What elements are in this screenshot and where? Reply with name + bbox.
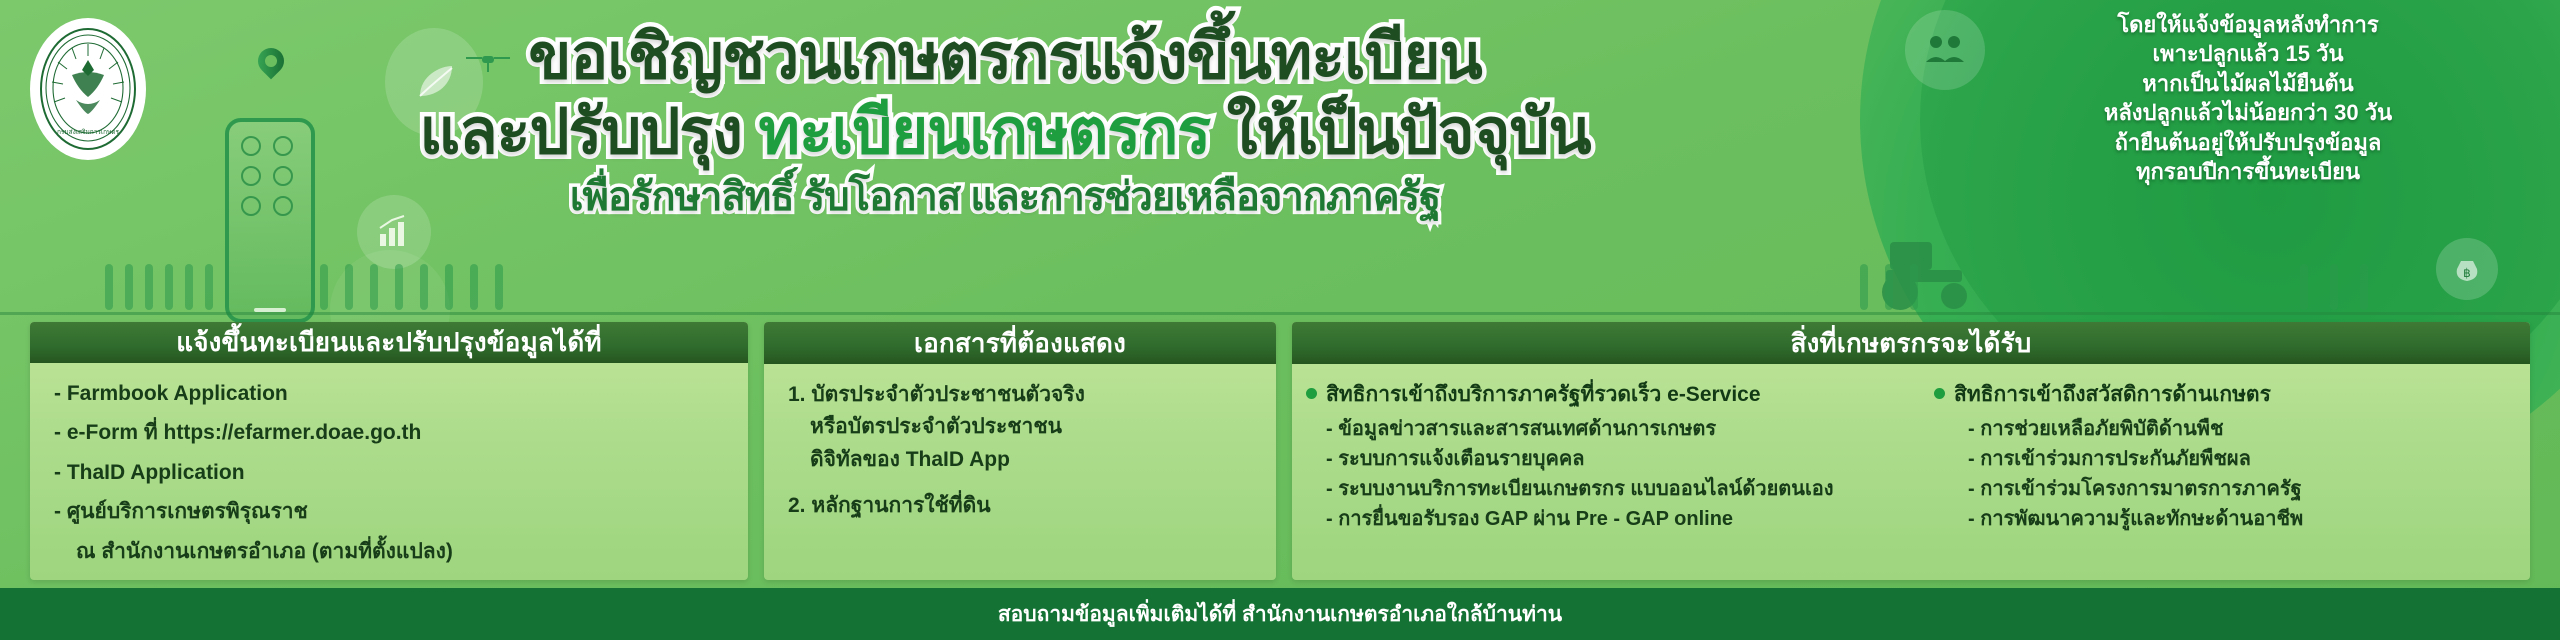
note-line-2: เพาะปลูกแล้ว 15 วัน — [2008, 39, 2488, 68]
benefit-item: - ระบบงานบริการทะเบียนเกษตรกร แบบออนไลน์… — [1306, 474, 1888, 504]
benefit-heading: สิทธิการเข้าถึงสวัสดิการด้านเกษตร — [1934, 380, 2516, 410]
headline-line-2b: ให้เป็นปัจจุบัน — [1210, 97, 1590, 167]
info-panels-row: แจ้งขึ้นทะเบียนและปรับปรุงข้อมูลได้ที่ -… — [30, 322, 2530, 580]
list-item: - Farmbook Application — [54, 379, 726, 409]
list-item: - ThaID Application — [54, 458, 726, 488]
footer-text: สอบถามข้อมูลเพิ่มเติมได้ที่ สำนักงานเกษต… — [998, 598, 1562, 631]
benefit-item: - ระบบการแจ้งเตือนรายบุคคล — [1306, 444, 1888, 474]
panel-3-title: สิ่งที่เกษตรกรจะได้รับ — [1292, 322, 2530, 364]
benefit-item: - การพัฒนาความรู้และทักษะด้านอาชีพ — [1934, 504, 2516, 534]
headline-line-1: ขอเชิญชวนเกษตรกรแจ้งขึ้นทะเบียน — [0, 22, 2010, 93]
benefit-item: - การช่วยเหลือภัยพิบัติด้านพืช — [1934, 414, 2516, 444]
note-line-1: โดยให้แจ้งข้อมูลหลังทำการ — [2008, 10, 2488, 39]
benefits-column-eservice: สิทธิการเข้าถึงบริการภาครัฐที่รวดเร็ว e-… — [1306, 380, 1888, 570]
bullet-dot-icon — [1306, 388, 1317, 399]
panel-required-documents: เอกสารที่ต้องแสดง 1. บัตรประจำตัวประชาชน… — [764, 322, 1276, 580]
panel-1-body: - Farmbook Application - e-Form ที่ http… — [30, 363, 748, 580]
headline-line-2a: และปรับปรุง — [419, 97, 758, 167]
footer-contact-bar: สอบถามข้อมูลเพิ่มเติมได้ที่ สำนักงานเกษต… — [0, 588, 2560, 640]
benefits-column-welfare: สิทธิการเข้าถึงสวัสดิการด้านเกษตร - การช… — [1894, 380, 2516, 570]
bullet-dot-icon — [1934, 388, 1945, 399]
benefit-item: - การยื่นขอรับรอง GAP ผ่าน Pre - GAP onl… — [1306, 504, 1888, 534]
list-item: - ศูนย์บริการเกษตรพิรุณราช — [54, 497, 726, 527]
list-item-cont: ดิจิทัลของ ThaID App — [788, 445, 1254, 475]
note-line-5: ถ้ายืนต้นอยู่ให้ปรับปรุงข้อมูล — [2008, 128, 2488, 157]
benefit-heading: สิทธิการเข้าถึงบริการภาครัฐที่รวดเร็ว e-… — [1306, 380, 1888, 410]
panel-2-body: 1. บัตรประจำตัวประชาชนตัวจริง หรือบัตรปร… — [764, 364, 1276, 580]
note-line-3: หากเป็นไม้ผลไม้ยืนต้น — [2008, 69, 2488, 98]
note-line-4: หลังปลูกแล้วไม่น้อยกว่า 30 วัน — [2008, 98, 2488, 127]
list-item: - e-Form ที่ https://efarmer.doae.go.th — [54, 418, 726, 448]
list-item-sub: ณ สำนักงานเกษตรอำเภอ (ตามที่ตั้งแปลง) — [54, 537, 726, 567]
panel-register-channels: แจ้งขึ้นทะเบียนและปรับปรุงข้อมูลได้ที่ -… — [30, 322, 748, 580]
crop-row-decoration — [0, 240, 2560, 310]
benefit-heading-text: สิทธิการเข้าถึงบริการภาครัฐที่รวดเร็ว e-… — [1326, 380, 1761, 410]
agriculture-registration-banner: กรมส่งเสริมการเกษตร ฿ — [0, 0, 2560, 640]
benefit-item: - การเข้าร่วมการประกันภัยพืชผล — [1934, 444, 2516, 474]
list-item: 1. บัตรประจำตัวประชาชนตัวจริง — [788, 380, 1254, 410]
ground-line — [0, 312, 2560, 315]
benefit-item: - การเข้าร่วมโครงการมาตรการภาครัฐ — [1934, 474, 2516, 504]
panel-3-body: สิทธิการเข้าถึงบริการภาครัฐที่รวดเร็ว e-… — [1292, 364, 2530, 580]
headline-line-2-accent: ทะเบียนเกษตรกร — [758, 97, 1210, 167]
headline-line-3: เพื่อรักษาสิทธิ์ รับโอกาส และการช่วยเหลื… — [0, 175, 2010, 220]
panel-2-title: เอกสารที่ต้องแสดง — [764, 322, 1276, 364]
panel-farmer-benefits: สิ่งที่เกษตรกรจะได้รับ สิทธิการเข้าถึงบร… — [1292, 322, 2530, 580]
note-line-6: ทุกรอบปีการขึ้นทะเบียน — [2008, 157, 2488, 186]
benefit-heading-text: สิทธิการเข้าถึงสวัสดิการด้านเกษตร — [1954, 380, 2271, 410]
list-item: 2. หลักฐานการใช้ที่ดิน — [788, 491, 1254, 521]
benefit-item: - ข้อมูลข่าวสารและสารสนเทศด้านการเกษตร — [1306, 414, 1888, 444]
registration-timing-note: โดยให้แจ้งข้อมูลหลังทำการ เพาะปลูกแล้ว 1… — [2008, 10, 2488, 187]
panel-1-title: แจ้งขึ้นทะเบียนและปรับปรุงข้อมูลได้ที่ — [30, 322, 748, 363]
headline-line-2: และปรับปรุง ทะเบียนเกษตรกร ให้เป็นปัจจุบ… — [0, 97, 2010, 168]
headline-block: ขอเชิญชวนเกษตรกรแจ้งขึ้นทะเบียน และปรับป… — [0, 22, 2010, 220]
list-item-cont: หรือบัตรประจำตัวประชาชน — [788, 412, 1254, 442]
